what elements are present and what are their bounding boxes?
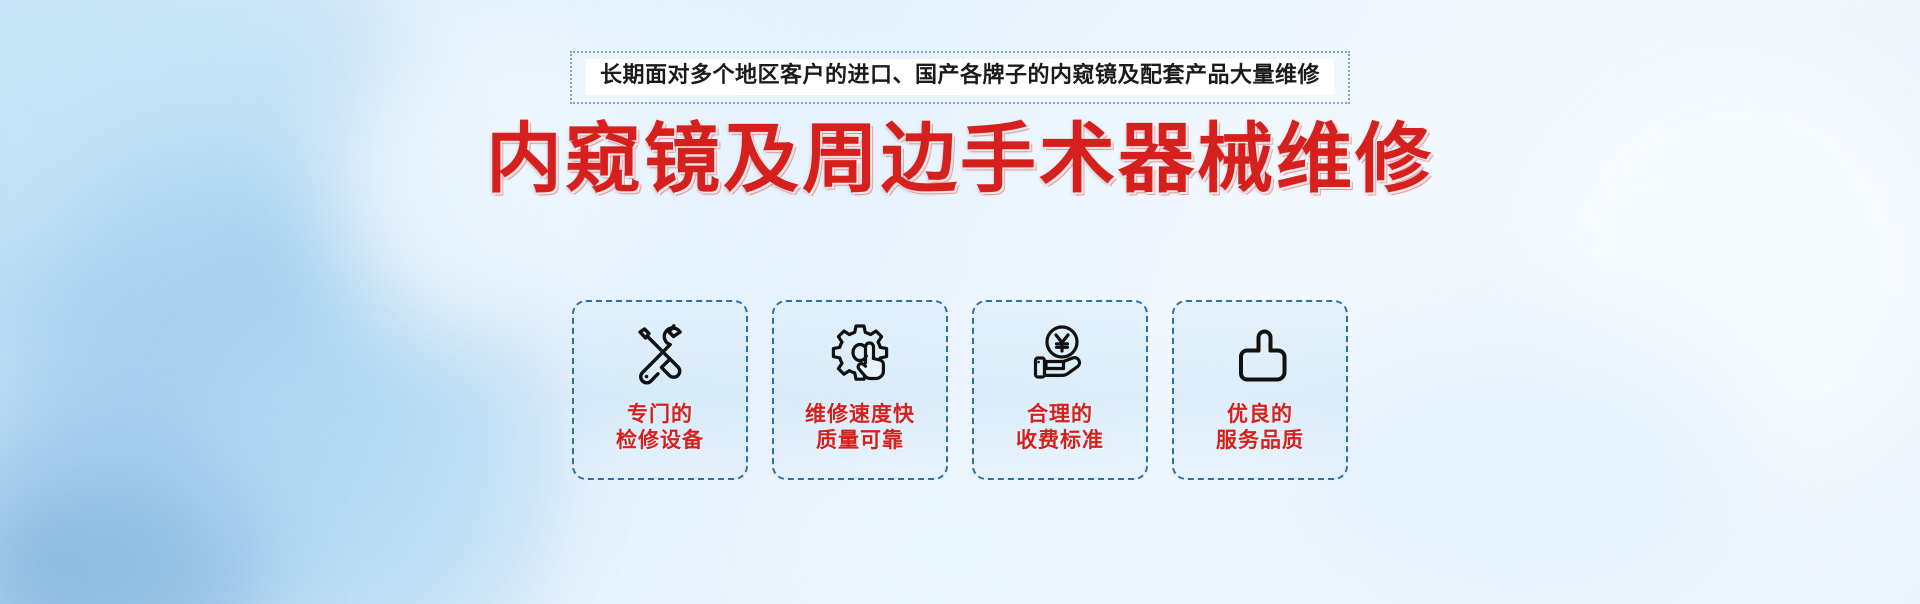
subheadline-dotted-frame: 长期面对多个地区客户的进口、国产各牌子的内窥镜及配套产品大量维修 — [570, 51, 1350, 104]
promo-banner: 长期面对多个地区客户的进口、国产各牌子的内窥镜及配套产品大量维修 内窥镜及周边手… — [0, 0, 1920, 604]
feature-card-price[interactable]: 合理的 收费标准 — [972, 300, 1148, 480]
feature-card-speed[interactable]: 维修速度快 质量可靠 — [772, 300, 948, 480]
feature-label-line2: 质量可靠 — [805, 428, 915, 454]
feature-card-label: 优良的 服务品质 — [1216, 402, 1304, 453]
feature-card-equipment[interactable]: 专门的 检修设备 — [572, 300, 748, 480]
feature-card-label: 合理的 收费标准 — [1016, 402, 1104, 453]
feature-card-list: 专门的 检修设备 — [0, 300, 1920, 480]
thumbs-up-icon — [1223, 318, 1297, 392]
feature-label-line2: 服务品质 — [1216, 428, 1304, 454]
banner-content: 长期面对多个地区客户的进口、国产各牌子的内窥镜及配套产品大量维修 内窥镜及周边手… — [0, 0, 1920, 604]
feature-label-line1: 维修速度快 — [805, 402, 915, 426]
feature-label-line2: 收费标准 — [1016, 428, 1104, 454]
hand-yen-coin-icon — [1023, 318, 1097, 392]
subheadline-wrapper: 长期面对多个地区客户的进口、国产各牌子的内窥镜及配套产品大量维修 — [0, 51, 1920, 104]
subheadline-text: 长期面对多个地区客户的进口、国产各牌子的内窥镜及配套产品大量维修 — [586, 59, 1334, 95]
feature-label-line1: 专门的 — [627, 402, 693, 426]
feature-card-label: 专门的 检修设备 — [616, 402, 704, 453]
feature-label-line1: 优良的 — [1227, 402, 1293, 426]
gear-click-icon — [823, 318, 897, 392]
page-title: 内窥镜及周边手术器械维修 — [0, 118, 1920, 200]
feature-card-service[interactable]: 优良的 服务品质 — [1172, 300, 1348, 480]
feature-label-line1: 合理的 — [1027, 402, 1093, 426]
feature-card-label: 维修速度快 质量可靠 — [805, 402, 915, 453]
feature-label-line2: 检修设备 — [616, 428, 704, 454]
screwdriver-wrench-icon — [623, 318, 697, 392]
